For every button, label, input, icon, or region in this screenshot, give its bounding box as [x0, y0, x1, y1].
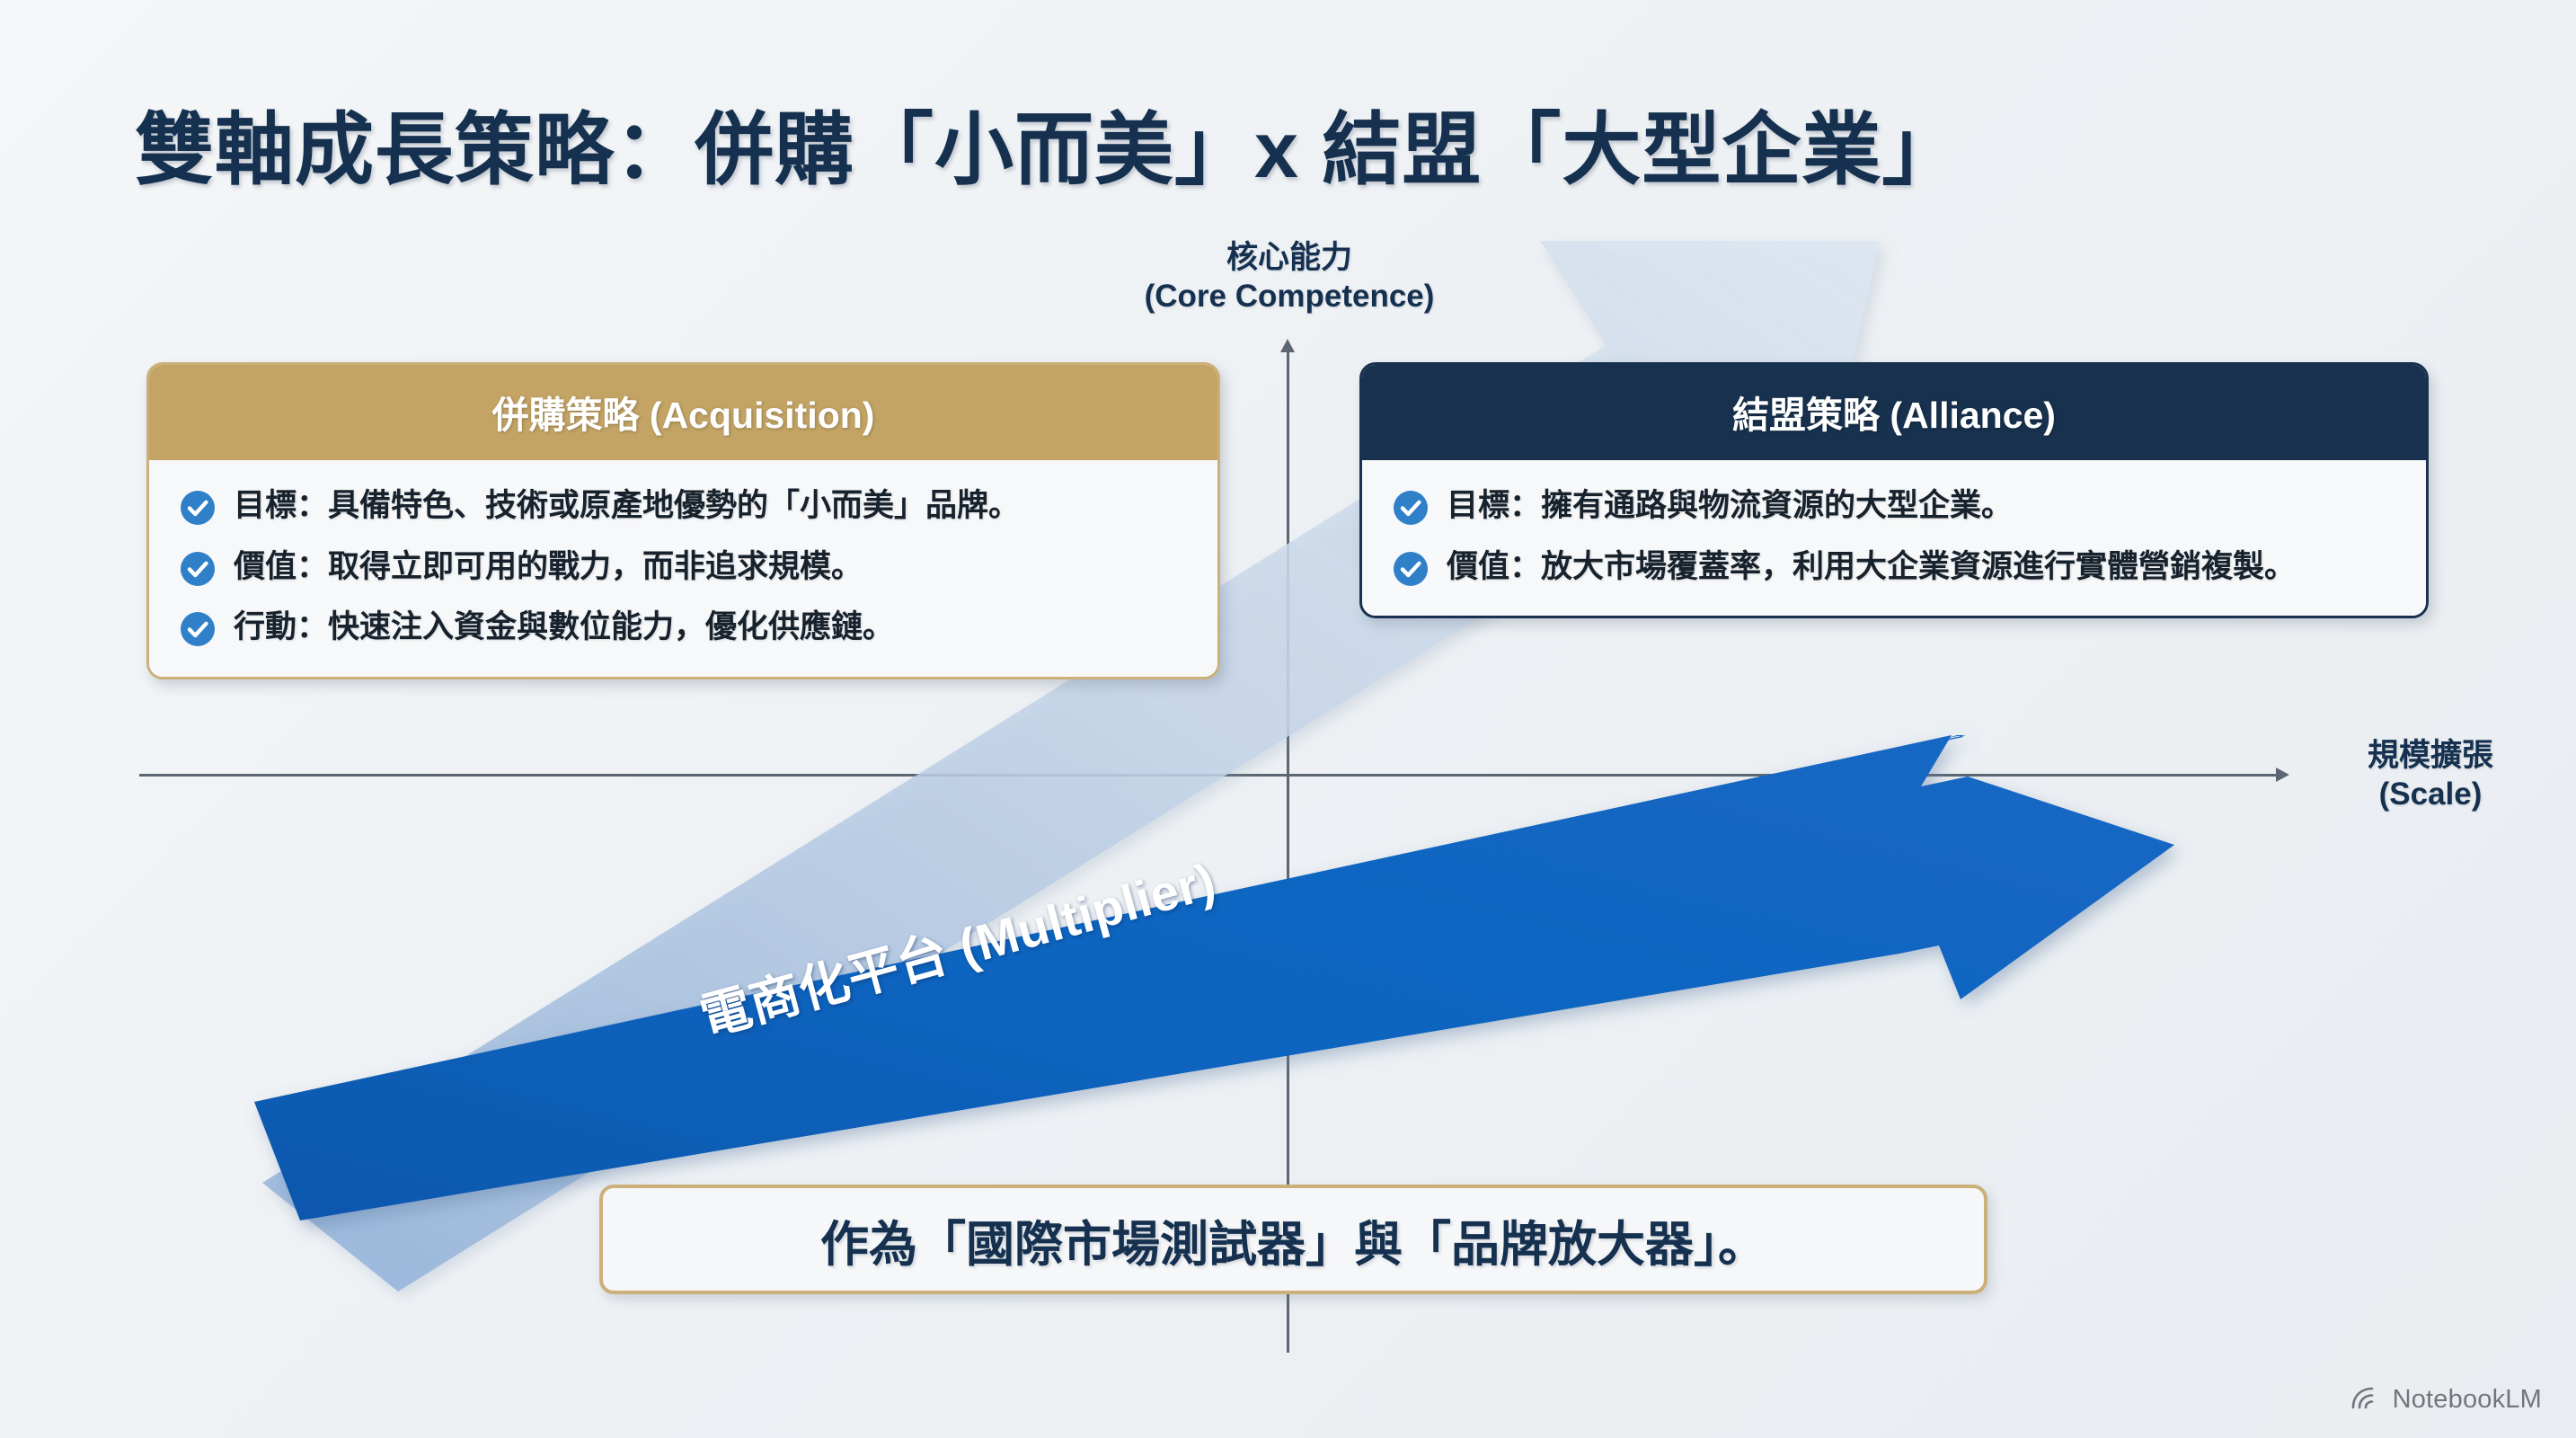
x-axis-label: 規模擴張 (Scale) — [2296, 737, 2565, 813]
card-acquisition-body: 目標：具備特色、技術或原產地優勢的「小而美」品牌。 價值：取得立即可用的戰力，而… — [149, 460, 1217, 677]
list-item: 行動：快速注入資金與數位能力，優化供應鏈。 — [180, 605, 1187, 650]
check-circle-icon — [180, 490, 216, 526]
check-circle-icon — [1393, 551, 1429, 587]
x-axis-label-zh: 規模擴張 — [2368, 738, 2493, 773]
arrow-caption: 電商化平台 (Multiplier) — [691, 840, 1222, 1050]
conclusion-text: 作為「國際市場測試器」與「品牌放大器」。 — [820, 1204, 1766, 1275]
card-acquisition: 併購策略 (Acquisition) 目標：具備特色、技術或原產地優勢的「小而美… — [146, 362, 1220, 679]
notebooklm-arc-icon — [2351, 1386, 2382, 1414]
slide-canvas: 雙軸成長策略：併購「小而美」x 結盟「大型企業」 核心能力 (Core Comp… — [0, 0, 2576, 1438]
list-item-text: 目標：具備特色、技術或原產地優勢的「小而美」品牌。 — [234, 484, 1020, 528]
y-axis-label: 核心能力 (Core Competence) — [1069, 239, 1509, 315]
list-item: 目標：擁有通路與物流資源的大型企業。 — [1393, 484, 2395, 528]
card-alliance-header: 結盟策略 (Alliance) — [1362, 365, 2426, 460]
notebooklm-watermark: NotebookLM — [2351, 1385, 2542, 1415]
conclusion-box: 作為「國際市場測試器」與「品牌放大器」。 — [599, 1185, 1987, 1294]
check-circle-icon — [180, 551, 216, 587]
card-alliance: 結盟策略 (Alliance) 目標：擁有通路與物流資源的大型企業。 — [1359, 362, 2429, 618]
y-axis-label-en: (Core Competence) — [1069, 278, 1509, 316]
check-circle-icon — [1393, 490, 1429, 526]
card-acquisition-header: 併購策略 (Acquisition) — [149, 365, 1217, 460]
primary-growth-arrow — [254, 731, 2174, 1221]
list-item: 目標：具備特色、技術或原產地優勢的「小而美」品牌。 — [180, 484, 1187, 528]
list-item-text: 價值：取得立即可用的戰力，而非追求規模。 — [234, 545, 863, 590]
x-axis-label-en: (Scale) — [2296, 776, 2565, 814]
list-item: 價值：取得立即可用的戰力，而非追求規模。 — [180, 545, 1187, 590]
list-item-text: 目標：擁有通路與物流資源的大型企業。 — [1447, 484, 2013, 528]
list-item: 價值：放大市場覆蓋率，利用大企業資源進行實體營銷複製。 — [1393, 545, 2395, 590]
check-circle-icon — [180, 611, 216, 647]
horizontal-axis — [139, 774, 2278, 777]
page-title: 雙軸成長策略：併購「小而美」x 結盟「大型企業」 — [135, 86, 1961, 200]
notebooklm-label: NotebookLM — [2393, 1385, 2542, 1415]
y-axis-label-zh: 核心能力 — [1226, 240, 1352, 275]
card-alliance-body: 目標：擁有通路與物流資源的大型企業。 價值：放大市場覆蓋率，利用大企業資源進行實… — [1362, 460, 2426, 616]
list-item-text: 價值：放大市場覆蓋率，利用大企業資源進行實體營銷複製。 — [1447, 545, 2296, 590]
list-item-text: 行動：快速注入資金與數位能力，優化供應鏈。 — [234, 605, 894, 650]
